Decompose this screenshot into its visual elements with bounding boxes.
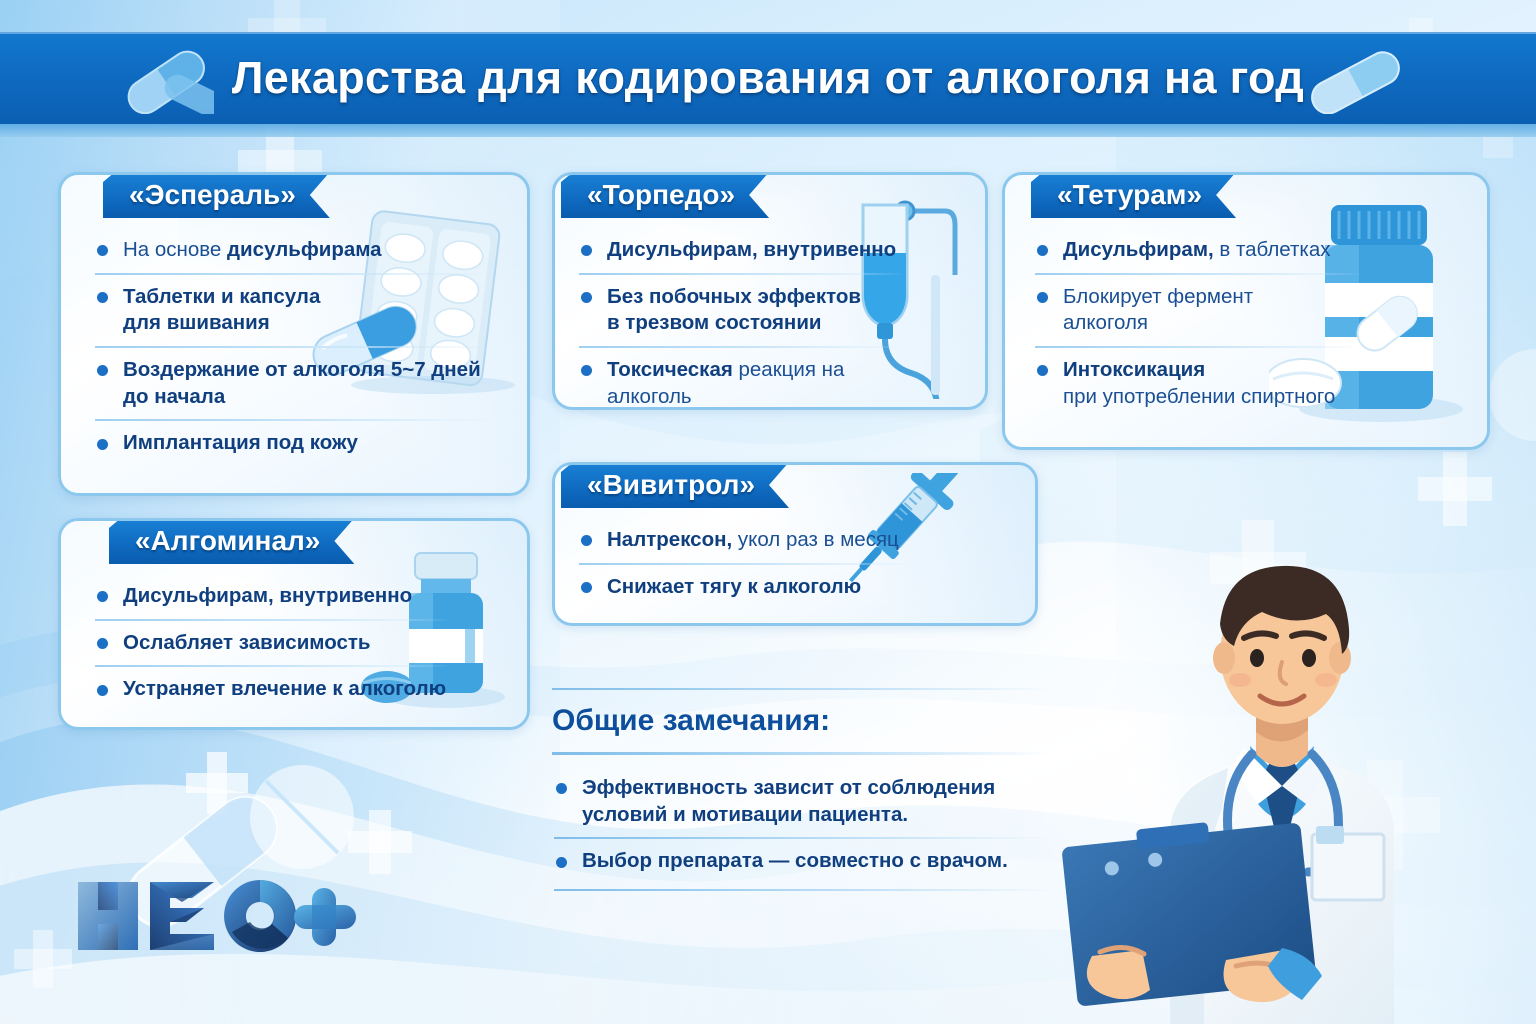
card-title-torpedo: «Торпедо» (561, 172, 769, 218)
list-item: На основе дисульфирама (93, 237, 493, 264)
bullet-dot (581, 582, 592, 593)
bullet-list-algominal: Дисульфирам, внутривенно Ослабляет завис… (93, 583, 453, 703)
card-torpedo: «Торпедо» Дисульфирам, внутривенно Без п… (552, 172, 988, 410)
bullet-dot (97, 365, 108, 376)
bullet-dot (97, 439, 108, 450)
bullet-list-esperal: На основе дисульфирама Таблетки и капсул… (93, 237, 493, 457)
logo-neo-plus (72, 872, 362, 958)
separator (579, 273, 907, 275)
list-item: Интоксикацияпри употреблении спиртного (1033, 357, 1363, 410)
list-item: Эффективность зависит от соблюденияуслов… (552, 775, 1052, 828)
bullet-dot (581, 292, 592, 303)
bullet-dot (581, 245, 592, 256)
separator (95, 419, 493, 421)
list-item: Дисульфирам, внутривенно (577, 237, 907, 264)
list-item: Снижает тягу к алкоголю (577, 574, 917, 601)
card-teturam: «Тетурам» Дисульфирам, в таблетках Блоки… (1002, 172, 1490, 450)
medical-cross-icon (14, 930, 72, 988)
list-item: Дисульфирам, внутривенно (93, 583, 453, 610)
list-item: Воздержание от алкоголя 5~7 днейдо начал… (93, 357, 493, 410)
general-notes-section: Общие замечания: Эффективность зависит о… (552, 688, 1052, 900)
card-title-label: «Эспераль» (129, 179, 296, 211)
list-item: Таблетки и капсуладля вшивания (93, 284, 493, 337)
card-title-label: «Тетурам» (1057, 179, 1202, 211)
card-algominal: «Алгоминал» Дисульфирам, внутривенно Осл… (58, 518, 530, 730)
list-item: Дисульфирам, в таблетках (1033, 237, 1363, 264)
card-title-algominal: «Алгоминал» (109, 518, 354, 564)
header-underline-strip (0, 124, 1536, 137)
separator (554, 889, 1052, 891)
list-item: Блокирует ферменталкоголя (1033, 284, 1363, 337)
card-title-esperal: «Эспераль» (103, 172, 330, 218)
card-vivitrol: «Вивитрол» Налтрексон, укол раз в месяц … (552, 462, 1038, 626)
bullet-dot (97, 292, 108, 303)
list-item: Токсическая реакция на алкоголь (577, 357, 907, 410)
card-esperal: «Эспераль» На основе дисульфирама Таблет… (58, 172, 530, 496)
separator (552, 752, 1052, 755)
card-title-label: «Вивитрол» (587, 469, 755, 501)
bullet-list-vivitrol: Налтрексон, укол раз в месяц Снижает тяг… (577, 527, 917, 600)
page-title: Лекарства для кодирования от алкоголя на… (0, 32, 1536, 124)
separator (579, 563, 917, 565)
separator (554, 837, 1052, 839)
list-item: Имплантация под кожу (93, 430, 493, 457)
bullet-dot (1037, 292, 1048, 303)
bullet-dot (1037, 245, 1048, 256)
bullet-dot (556, 783, 567, 794)
bullet-dot (581, 365, 592, 376)
bullet-dot (97, 245, 108, 256)
infographic-root: Лекарства для кодирования от алкоголя на… (0, 0, 1536, 1024)
separator (95, 273, 493, 275)
separator (95, 619, 453, 621)
bullet-list-torpedo: Дисульфирам, внутривенно Без побочных эф… (577, 237, 907, 410)
separator (552, 688, 1052, 690)
card-title-label: «Торпедо» (587, 179, 735, 211)
separator (95, 346, 493, 348)
list-item: Устраняет влечение к алкоголю (93, 676, 453, 703)
bullet-dot (97, 591, 108, 602)
separator (1035, 273, 1363, 275)
bullet-list-teturam: Дисульфирам, в таблетках Блокирует ферме… (1033, 237, 1363, 410)
list-item: Без побочных эффектовв трезвом состоянии (577, 284, 907, 337)
bullet-dot (97, 685, 108, 696)
bullet-dot (97, 638, 108, 649)
pill-icon (212, 742, 392, 892)
list-item: Ослабляет зависимость (93, 630, 453, 657)
card-title-label: «Алгоминал» (135, 525, 320, 557)
separator (1035, 346, 1363, 348)
separator (579, 346, 907, 348)
notes-title: Общие замечания: (552, 704, 1052, 738)
list-item: Выбор препарата — совместно с врачом. (552, 848, 1052, 875)
bullet-dot (1037, 365, 1048, 376)
doctor-illustration (1044, 504, 1514, 1024)
card-title-vivitrol: «Вивитрол» (561, 462, 789, 508)
card-title-teturam: «Тетурам» (1031, 172, 1236, 218)
list-item: Налтрексон, укол раз в месяц (577, 527, 917, 554)
separator (95, 665, 453, 667)
bullet-dot (556, 857, 567, 868)
bullet-dot (581, 535, 592, 546)
